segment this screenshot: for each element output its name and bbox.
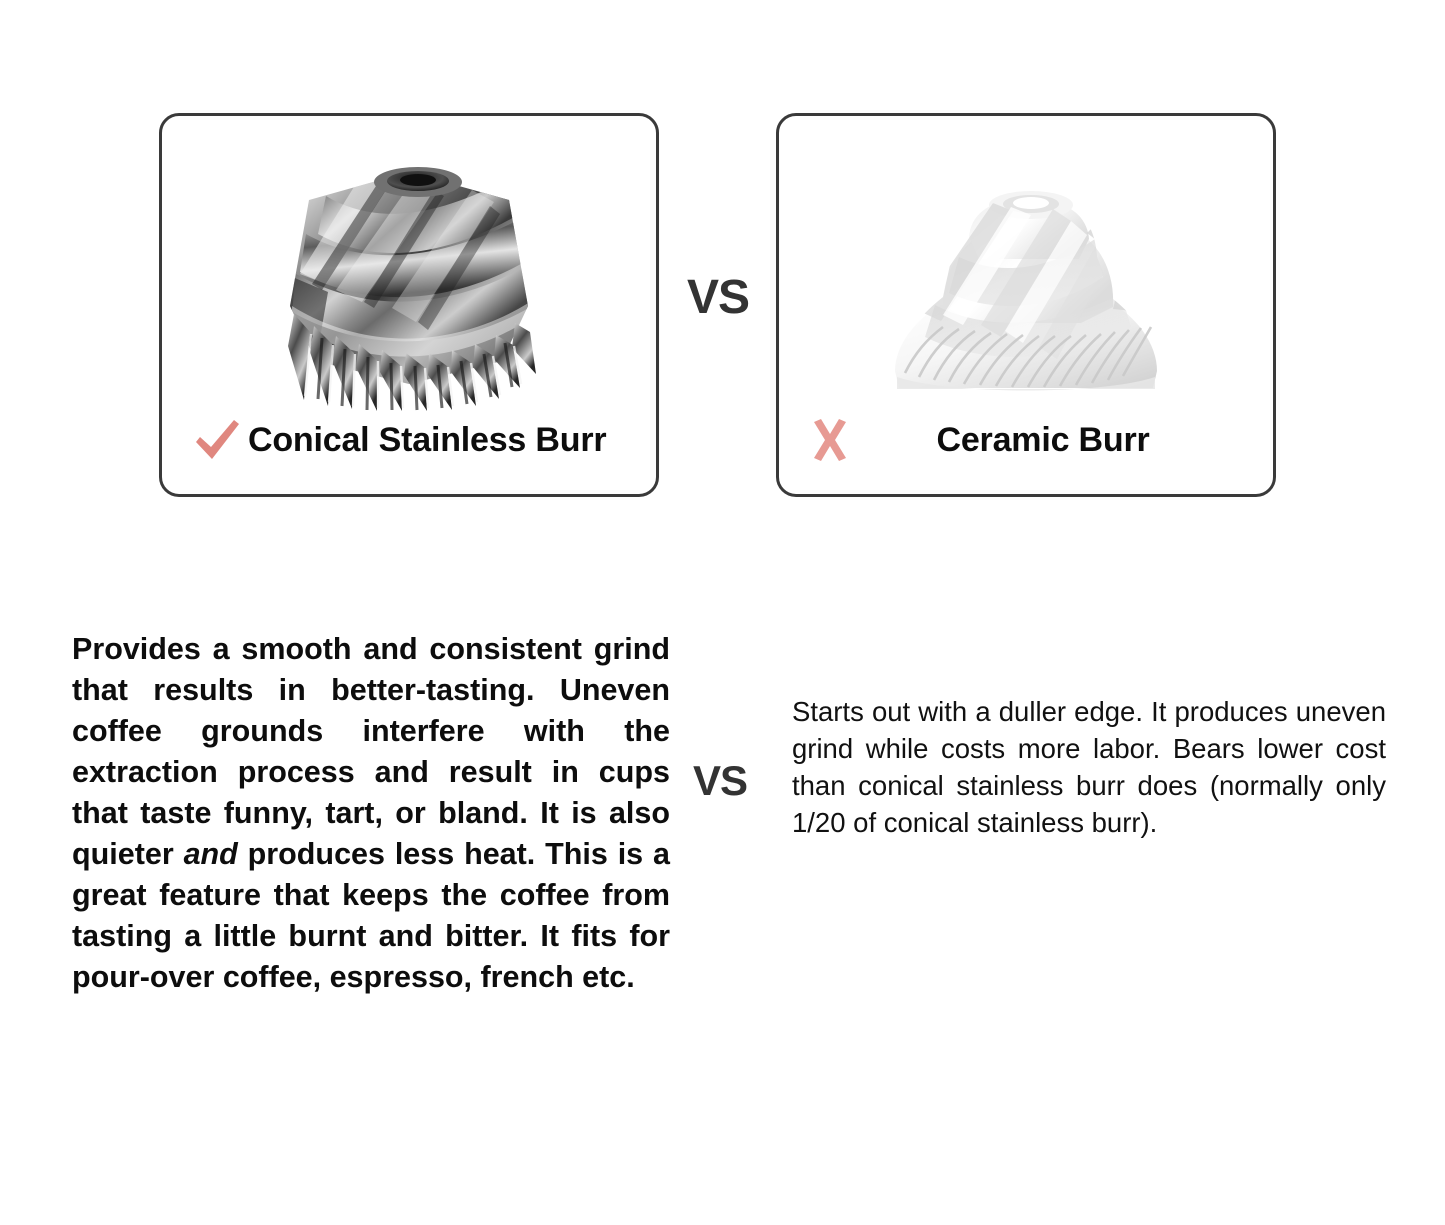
card-left-label: Conical Stainless Burr [248, 421, 606, 460]
description-ceramic-burr: Starts out with a duller edge. It produc… [792, 693, 1386, 841]
card-right-label: Ceramic Burr [859, 421, 1273, 460]
check-icon [188, 414, 246, 466]
vs-separator-top: VS [672, 270, 764, 325]
card-ceramic-burr[interactable]: Ceramic Burr [776, 113, 1276, 497]
card-right-label-row: Ceramic Burr [779, 414, 1273, 466]
description-conical-stainless-burr: Provides a smooth and consistent grind t… [72, 629, 670, 998]
conical-stainless-burr-image [162, 126, 656, 411]
card-left-label-row: Conical Stainless Burr [162, 414, 656, 466]
card-conical-stainless-burr[interactable]: Conical Stainless Burr [159, 113, 659, 497]
ceramic-burr-image [779, 126, 1273, 411]
vs-separator-bottom: VS [674, 757, 766, 805]
cross-icon [801, 414, 859, 466]
comparison-cards-row: Conical Stainless Burr [0, 0, 1445, 520]
